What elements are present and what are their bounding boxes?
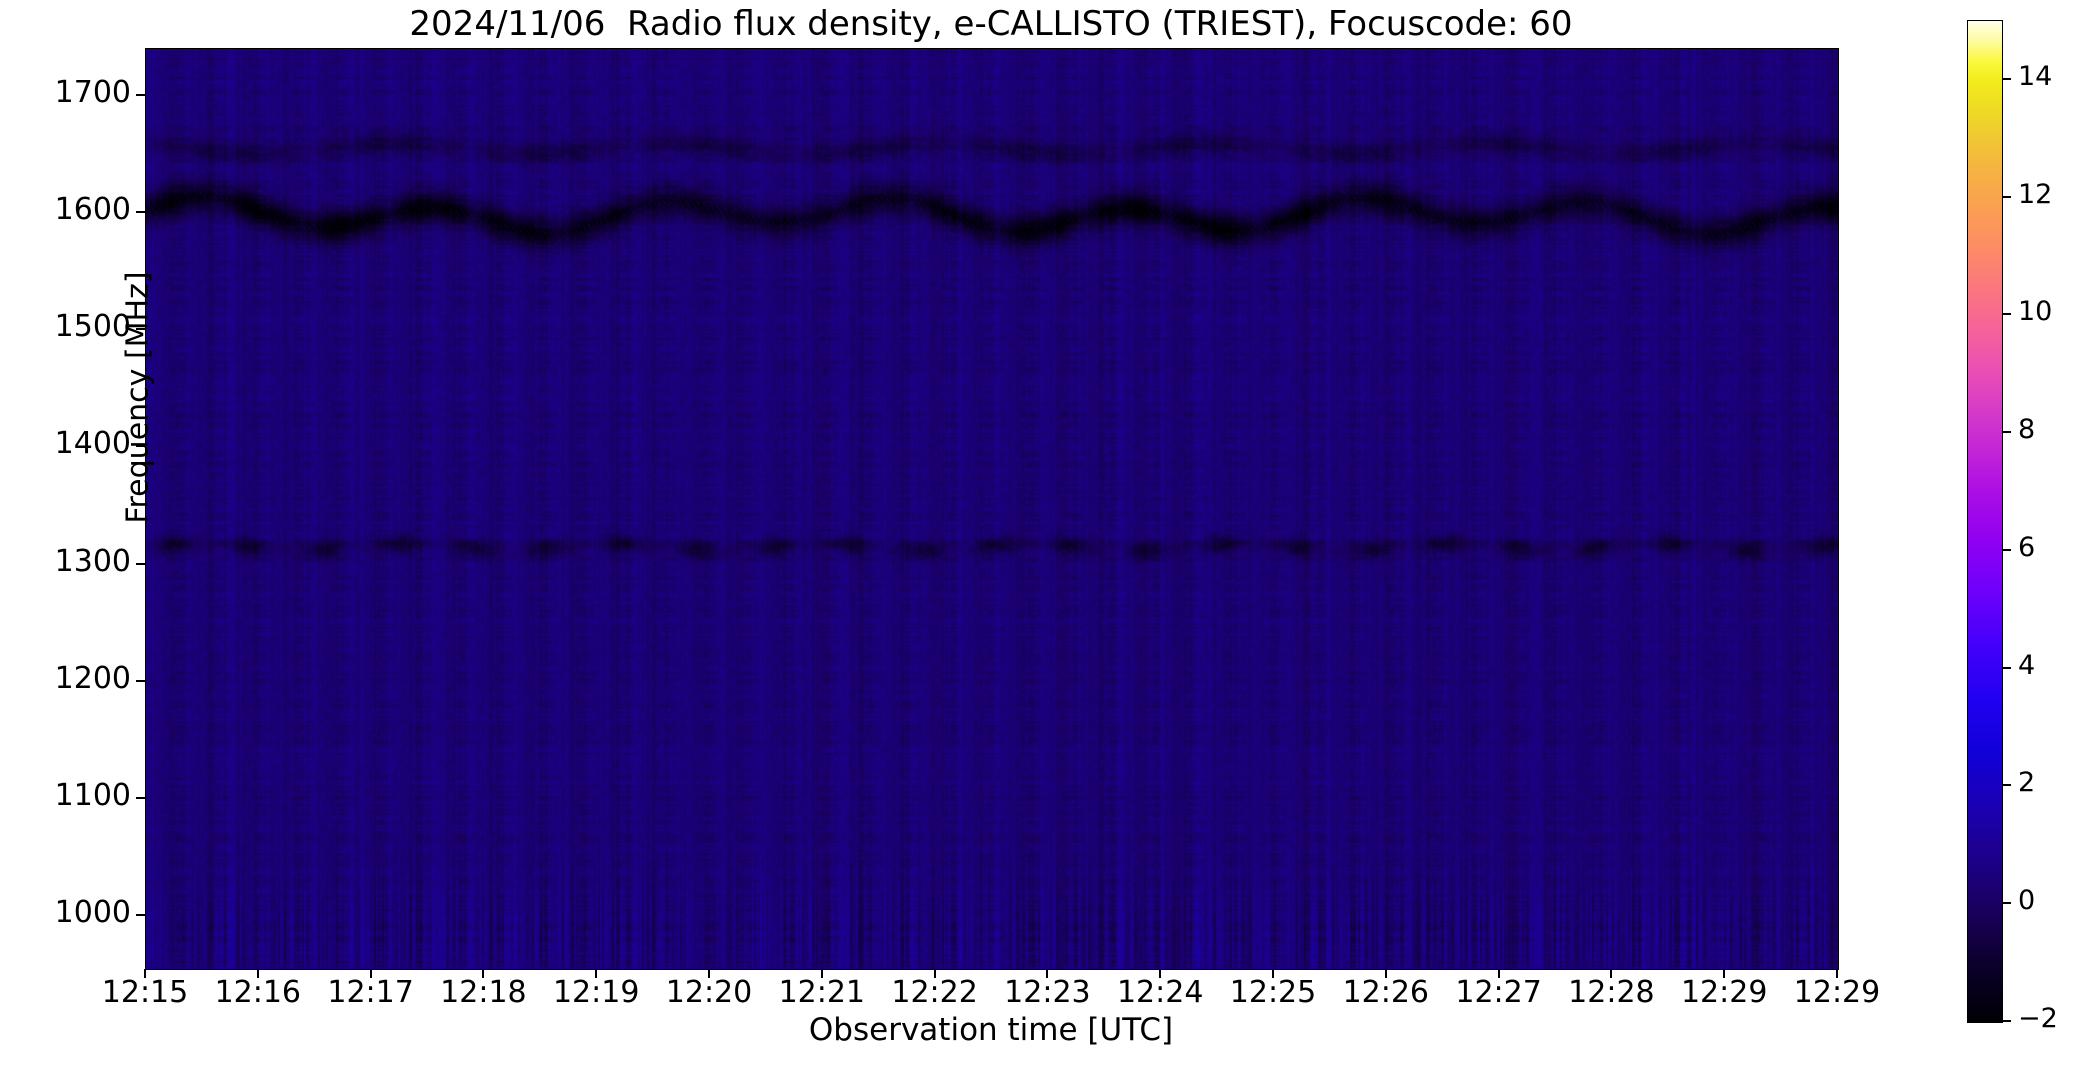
x-axis-tick-label: 12:17 — [311, 975, 431, 1010]
colorbar-tick-mark — [2002, 549, 2011, 551]
colorbar[interactable] — [1967, 20, 2003, 1023]
colorbar-tick-mark — [2002, 196, 2011, 198]
colorbar-tick-label: 10 — [2018, 296, 2052, 327]
y-axis-tick-label: 1300 — [55, 544, 131, 579]
x-axis-tick-mark — [1723, 969, 1725, 978]
y-axis-tick-label: 1000 — [55, 895, 131, 930]
y-axis-tick-mark — [136, 328, 145, 330]
x-axis-tick-label: 12:24 — [1100, 975, 1220, 1010]
colorbar-tick-label: 14 — [2018, 61, 2052, 92]
colorbar-tick-label: 0 — [2018, 885, 2035, 916]
x-axis-tick-label: 12:28 — [1551, 975, 1671, 1010]
x-axis-tick-mark — [1272, 969, 1274, 978]
x-axis-tick-label: 12:23 — [987, 975, 1107, 1010]
y-axis-tick-mark — [136, 211, 145, 213]
colorbar-tick-label: 2 — [2018, 767, 2035, 798]
colorbar-tick-mark — [2002, 313, 2011, 315]
y-axis-tick-label: 1700 — [55, 75, 131, 110]
colorbar-tick-label: −2 — [2018, 1003, 2058, 1034]
y-axis-tick-mark — [136, 94, 145, 96]
x-axis-tick-label: 12:18 — [423, 975, 543, 1010]
x-axis-tick-label: 12:29 — [1664, 975, 1784, 1010]
colorbar-tick-mark — [2002, 1020, 2011, 1022]
x-axis-tick-mark — [370, 969, 372, 978]
y-axis-tick-label: 1600 — [55, 192, 131, 227]
x-axis-tick-mark — [1498, 969, 1500, 978]
colorbar-tick-mark — [2002, 431, 2011, 433]
colorbar-tick-label: 4 — [2018, 650, 2035, 681]
x-axis-label: Observation time [UTC] — [145, 1012, 1837, 1048]
x-axis-tick-label: 12:21 — [762, 975, 882, 1010]
y-axis-tick-label: 1500 — [55, 309, 131, 344]
x-axis-tick-label: 12:27 — [1439, 975, 1559, 1010]
x-axis-tick-mark — [482, 969, 484, 978]
y-axis-tick-mark — [136, 914, 145, 916]
x-axis-tick-mark — [1610, 969, 1612, 978]
spectrogram-axes[interactable] — [145, 48, 1839, 970]
colorbar-gradient — [1968, 21, 2002, 1022]
y-axis-tick-label: 1100 — [55, 778, 131, 813]
page-title: 2024/11/06 Radio flux density, e-CALLIST… — [145, 4, 1837, 44]
y-axis-tick-label: 1400 — [55, 426, 131, 461]
y-axis-tick-mark — [136, 797, 145, 799]
y-axis-tick-mark — [136, 680, 145, 682]
x-axis-tick-mark — [1159, 969, 1161, 978]
x-axis-tick-mark — [595, 969, 597, 978]
colorbar-tick-label: 8 — [2018, 414, 2035, 445]
x-axis-tick-label: 12:16 — [198, 975, 318, 1010]
colorbar-tick-mark — [2002, 902, 2011, 904]
x-axis-tick-mark — [1836, 969, 1838, 978]
y-axis-tick-label: 1200 — [55, 661, 131, 696]
colorbar-tick-mark — [2002, 667, 2011, 669]
x-axis-tick-mark — [708, 969, 710, 978]
colorbar-tick-mark — [2002, 784, 2011, 786]
x-axis-tick-mark — [1385, 969, 1387, 978]
x-axis-tick-mark — [144, 969, 146, 978]
x-axis-tick-label: 12:29 — [1777, 975, 1897, 1010]
figure-canvas: 2024/11/06 Radio flux density, e-CALLIST… — [0, 0, 2085, 1067]
x-axis-tick-label: 12:15 — [85, 975, 205, 1010]
spectrogram-heatmap — [146, 49, 1838, 969]
x-axis-tick-mark — [821, 969, 823, 978]
x-axis-tick-mark — [257, 969, 259, 978]
x-axis-tick-label: 12:25 — [1213, 975, 1333, 1010]
x-axis-tick-label: 12:22 — [875, 975, 995, 1010]
colorbar-tick-mark — [2002, 78, 2011, 80]
x-axis-tick-label: 12:26 — [1326, 975, 1446, 1010]
y-axis-tick-mark — [136, 563, 145, 565]
x-axis-tick-label: 12:20 — [649, 975, 769, 1010]
x-axis-tick-mark — [1046, 969, 1048, 978]
colorbar-tick-label: 12 — [2018, 179, 2052, 210]
x-axis-tick-label: 12:19 — [536, 975, 656, 1010]
y-axis-tick-mark — [136, 445, 145, 447]
y-axis-label: Frequency [MHz] — [121, 238, 156, 558]
colorbar-tick-label: 6 — [2018, 532, 2035, 563]
x-axis-tick-mark — [934, 969, 936, 978]
